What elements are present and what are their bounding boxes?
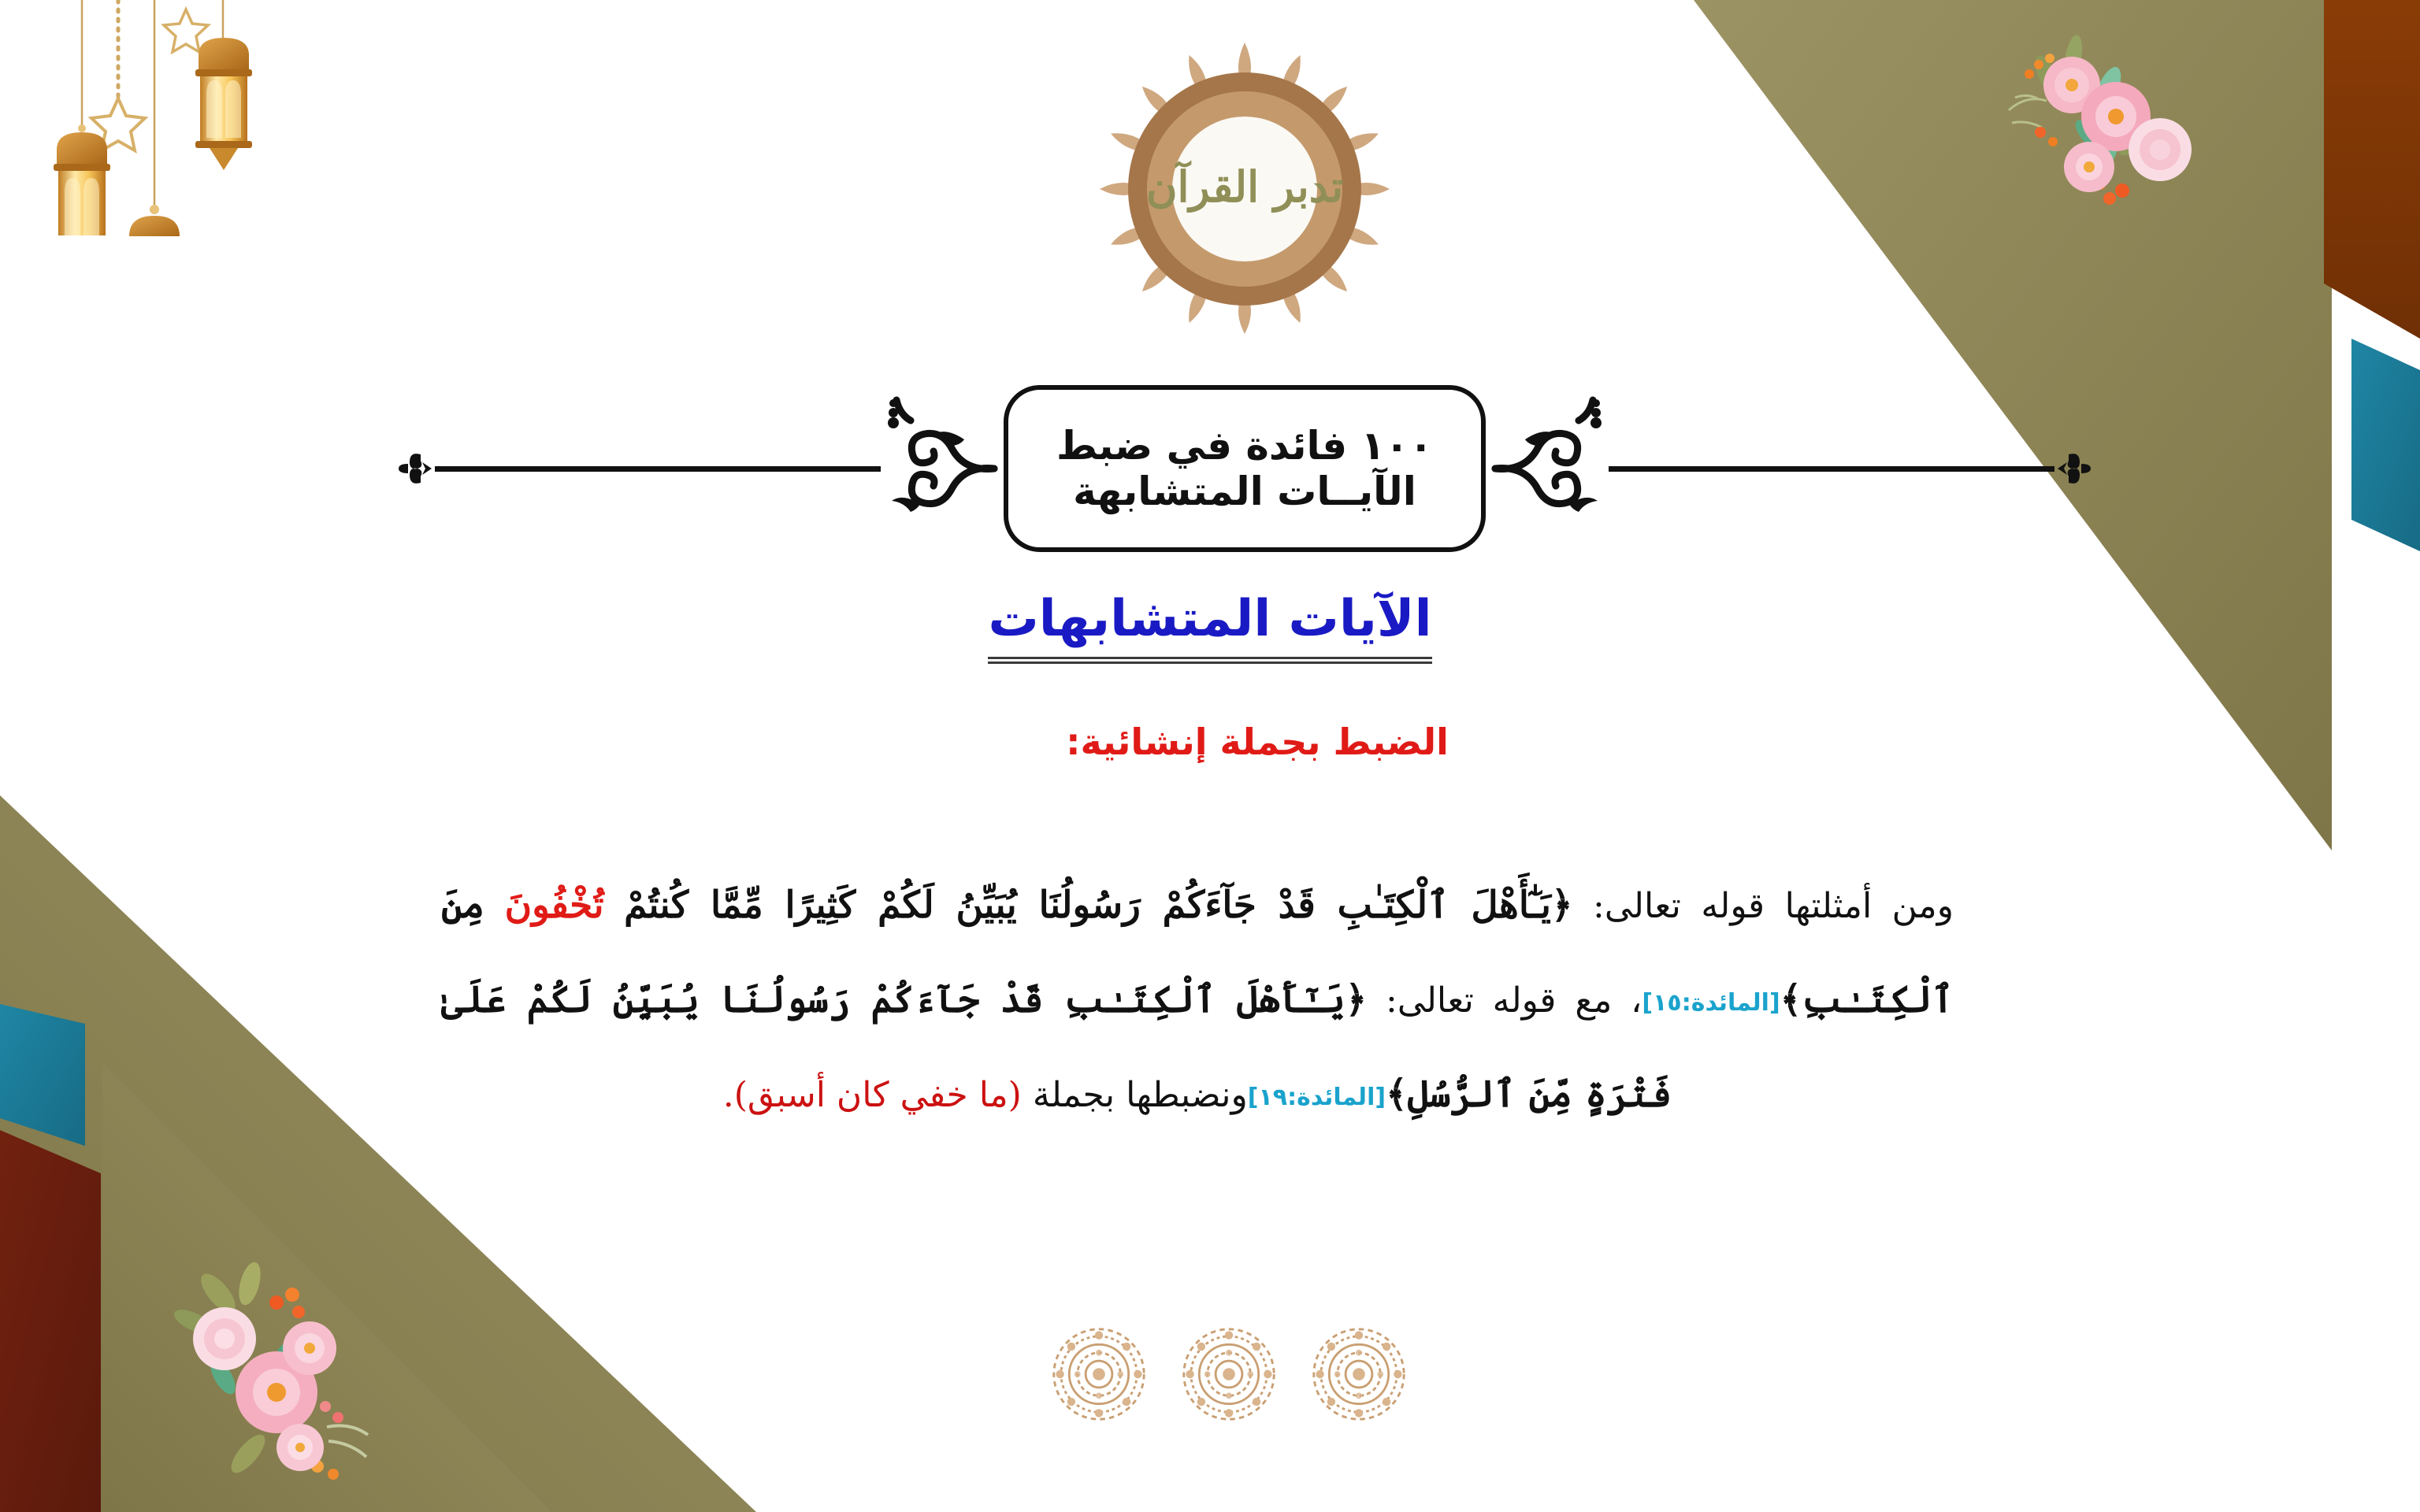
divider-right bbox=[394, 394, 999, 543]
lantern-icon bbox=[54, 132, 110, 235]
quran-medallion: تدبر القرآن bbox=[1087, 31, 1402, 346]
lantern-icon bbox=[129, 216, 180, 236]
body-connector: ، مع قوله تعالى: bbox=[1386, 980, 1642, 1021]
verse-2-reference: [المائدة:١٩] bbox=[1248, 1084, 1386, 1111]
fleur-endcap-icon bbox=[2054, 440, 2095, 497]
bottom-left-maroon-band bbox=[0, 1130, 101, 1512]
mandala-rosette-icon bbox=[1308, 1323, 1410, 1425]
divider-rule bbox=[435, 466, 881, 472]
fleur-endcap-icon bbox=[394, 440, 435, 497]
title-banner: ١٠٠ فائدة في ضبط الآيــات المتشابهة bbox=[1004, 385, 1486, 552]
page-title: الآيات المتشابهات bbox=[0, 591, 2420, 664]
page-title-text: الآيات المتشابهات bbox=[988, 591, 1431, 664]
top-right-brown-band bbox=[2324, 0, 2420, 339]
mandala-rosette-icon bbox=[1178, 1323, 1280, 1425]
body-closing: ونضبطها بجملة bbox=[1033, 1075, 1248, 1115]
divider-left bbox=[1490, 394, 2095, 543]
title-line-1: ١٠٠ فائدة في ضبط bbox=[1056, 424, 1433, 468]
pink-flowers bbox=[193, 1307, 336, 1471]
title-divider-row: ١٠٠ فائدة في ضبط الآيــات المتشابهة bbox=[394, 394, 2095, 543]
body-intro: ومن أمثلتها قوله تعالى: bbox=[1593, 886, 1954, 926]
verse-1-reference: [المائدة:١٥] bbox=[1642, 989, 1780, 1017]
floral-bouquet-top-right bbox=[1954, 16, 2221, 268]
title-line-2: الآيــات المتشابهة bbox=[1073, 469, 1416, 513]
mandala-rosette-icon bbox=[1048, 1323, 1150, 1425]
top-right-teal-band bbox=[2351, 339, 2420, 551]
section-subtitle: الضبط بجملة إنشائية: bbox=[0, 721, 2420, 763]
scroll-flourish-icon bbox=[881, 394, 999, 543]
ramadan-lanterns-decor bbox=[0, 0, 284, 236]
divider-rule bbox=[1609, 466, 2054, 472]
mnemonic-phrase: (ما خفي كان أسبق). bbox=[723, 1075, 1022, 1115]
body-paragraph: ومن أمثلتها قوله تعالى: ﴿يَـٰٓأَهْلَ ٱلْ… bbox=[441, 858, 1954, 1142]
bottom-rosette-row bbox=[1048, 1323, 1410, 1425]
verse-1-highlight: تُخْفُونَ bbox=[505, 884, 604, 927]
section-subtitle-text: الضبط بجملة إنشائية: bbox=[1066, 721, 1449, 763]
lantern-icon bbox=[195, 38, 252, 170]
medallion-calligraphy: تدبر القرآن bbox=[1146, 160, 1343, 213]
bottom-left-teal-parallelogram bbox=[0, 1004, 85, 1146]
slide-canvas: تدبر القرآن bbox=[0, 0, 2420, 1512]
floral-bouquet-bottom-left bbox=[130, 1260, 414, 1512]
scroll-flourish-icon bbox=[1490, 394, 1609, 543]
verse-1-part-1: ﴿يَـٰٓأَهْلَ ٱلْكِتَـٰبِ قَدْ جَآءَكُمْ … bbox=[624, 884, 1572, 927]
